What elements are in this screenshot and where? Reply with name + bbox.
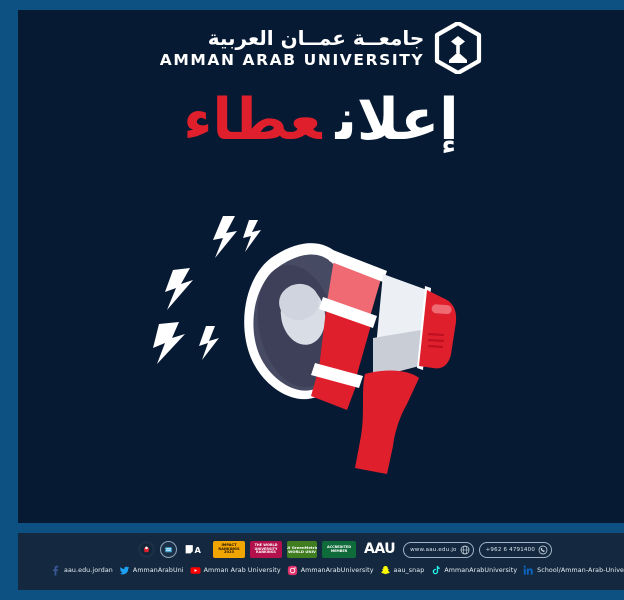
facebook-handle: aau.edu.jordan <box>64 567 113 574</box>
social-link-facebook[interactable]: aau.edu.jordan <box>50 565 113 576</box>
brand-name-arabic: جامعــة عمــان العربية <box>208 28 425 48</box>
sound-bolts-icon <box>153 216 261 364</box>
phone-icon <box>538 545 548 555</box>
phone-pill[interactable]: +962 6 4791400 <box>479 542 552 558</box>
poster-footer: A IMPACTRANKINGS2023 THE WORLDUNIVERSITY… <box>18 533 624 590</box>
snapchat-icon <box>380 565 391 576</box>
social-link-twitter[interactable]: AmmanArabUni <box>119 565 184 576</box>
youtube-icon <box>190 565 201 576</box>
poster-canvas: جامعــة عمــان العربية AMMAN ARAB UNIVER… <box>18 10 624 523</box>
qa-icon: A <box>184 541 206 558</box>
social-link-linkedin[interactable]: School/Amman-Arab-University <box>523 565 624 576</box>
announcement-poster: جامعــة عمــان العربية AMMAN ARAB UNIVER… <box>0 0 624 600</box>
hcac-badge <box>160 541 177 558</box>
university-brand-lockup: جامعــة عمــان العربية AMMAN ARAB UNIVER… <box>18 22 624 74</box>
crest-icon <box>140 543 153 556</box>
headline-word-white: إعلان <box>336 87 459 153</box>
social-link-snapchat[interactable]: aau_snap <box>380 565 425 576</box>
social-link-tiktok[interactable]: AmmanArabUniversity <box>430 565 517 576</box>
snapchat-handle: aau_snap <box>394 567 425 574</box>
aau-badge: AAU <box>361 541 398 558</box>
jordan-crest-badge <box>138 541 155 558</box>
footer-divider <box>0 523 624 533</box>
facebook-icon <box>50 565 61 576</box>
youtube-handle: Amman Arab University <box>204 567 281 574</box>
tiktok-handle: AmmanArabUniversity <box>444 567 517 574</box>
instagram-handle: AmmanArabUniversity <box>301 567 374 574</box>
ui-greenmetric-badge: UI GreenMetricWORLD UNIV <box>287 541 317 558</box>
the-ranking-badge: THE WORLDUNIVERSITYRANKINGS <box>250 541 282 558</box>
hexagon-torch-logo-icon <box>434 22 482 74</box>
phone-label: +962 6 4791400 <box>486 547 535 553</box>
brand-text-block: جامعــة عمــان العربية AMMAN ARAB UNIVER… <box>160 28 425 69</box>
headline-word-red: عطاء <box>183 87 321 153</box>
green-accred-badge: ACCREDITEDMEMBER <box>322 541 356 558</box>
social-link-youtube[interactable]: Amman Arab University <box>190 565 281 576</box>
twitter-handle: AmmanArabUni <box>133 567 184 574</box>
linkedin-handle: School/Amman-Arab-University <box>537 567 624 574</box>
social-link-instagram[interactable]: AmmanArabUniversity <box>287 565 374 576</box>
megaphone-handle <box>355 371 419 474</box>
headline: إعلانعطاء <box>18 92 624 149</box>
linkedin-icon <box>523 565 534 576</box>
cap-highlight <box>431 304 452 314</box>
accreditation-badges: A IMPACTRANKINGS2023 THE WORLDUNIVERSITY… <box>138 541 552 558</box>
megaphone-graphic <box>151 198 491 488</box>
qa-badge: A <box>182 541 208 558</box>
globe-icon <box>460 545 470 555</box>
svg-text:A: A <box>194 545 201 555</box>
megaphone-illustration <box>151 198 491 488</box>
times-impact-badge: IMPACTRANKINGS2023 <box>213 541 245 558</box>
website-label: www.aau.edu.jo <box>410 547 457 553</box>
social-links: aau.edu.jordan AmmanArabUni Amman Arab U… <box>50 565 614 576</box>
hcac-icon <box>163 544 174 555</box>
brand-name-english: AMMAN ARAB UNIVERSITY <box>160 53 425 69</box>
tiktok-icon <box>430 565 441 576</box>
instagram-icon <box>287 565 298 576</box>
website-pill[interactable]: www.aau.edu.jo <box>403 542 474 558</box>
twitter-icon <box>119 565 130 576</box>
